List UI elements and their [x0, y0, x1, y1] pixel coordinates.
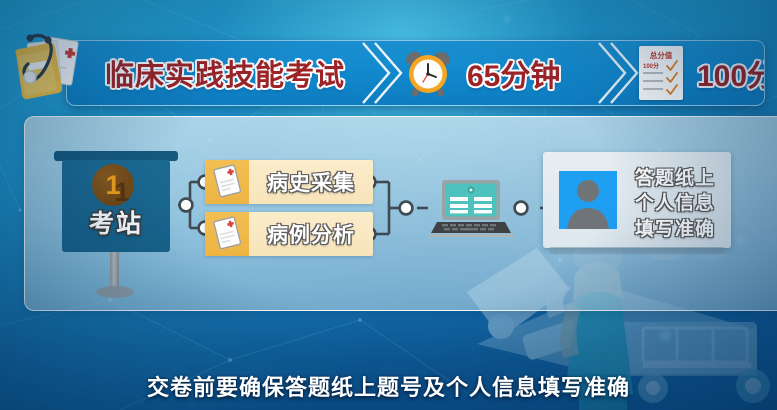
bokeh-light — [504, 16, 510, 22]
answer-sheet-line-1: 答题纸上 — [625, 166, 725, 191]
alarm-clock-icon — [403, 48, 453, 98]
task-tag-label: 病史采集 — [249, 167, 373, 197]
task-tag-label: 病例分析 — [249, 219, 373, 249]
score-sheet-value: 100分 — [643, 61, 659, 70]
duration-label: 65分钟 — [467, 51, 560, 95]
header-segment-duration: 65分钟 — [403, 41, 613, 105]
laptop-icon — [428, 178, 514, 240]
medical-folder-stethoscope-icon — [4, 26, 90, 112]
answer-sheet-line-2: 个人信息 — [625, 191, 725, 216]
exam-title-label: 临床实践技能考试 — [105, 52, 345, 94]
checkmark-icon — [666, 59, 679, 97]
station-sign-base — [96, 286, 134, 298]
task-tag-case-analysis[interactable]: 病例分析 — [205, 212, 373, 256]
station-number-badge: 1 — [92, 164, 134, 206]
task-tag-history-taking[interactable]: 病史采集 — [205, 160, 373, 204]
answer-sheet-line-3: 填写准确 — [625, 217, 725, 242]
header-segment-exam: 临床实践技能考试 — [67, 41, 383, 105]
infographic-slide: 临床实践技能考试 65分钟 — [0, 0, 777, 410]
station-number-label: 1 — [92, 164, 134, 206]
clipboard-document-icon — [205, 212, 249, 256]
score-label: 100分 — [697, 51, 765, 95]
header-banner: 临床实践技能考试 65分钟 — [66, 40, 765, 106]
answer-sheet-text-block: 答题纸上 个人信息 填写准确 — [625, 166, 725, 242]
id-photo-icon — [559, 171, 617, 229]
station-label: 考站 — [62, 204, 170, 240]
clipboard-document-icon — [205, 160, 249, 204]
answer-sheet-card: 答题纸上 个人信息 填写准确 — [543, 152, 731, 248]
header-segment-score: 总分值 100分 100分 — [639, 41, 764, 105]
subtitle-caption: 交卷前要确保答题纸上题号及个人信息填写准确 — [0, 370, 777, 402]
answer-sheet-card-base — [549, 247, 725, 254]
score-sheet-icon: 总分值 100分 — [639, 46, 683, 100]
